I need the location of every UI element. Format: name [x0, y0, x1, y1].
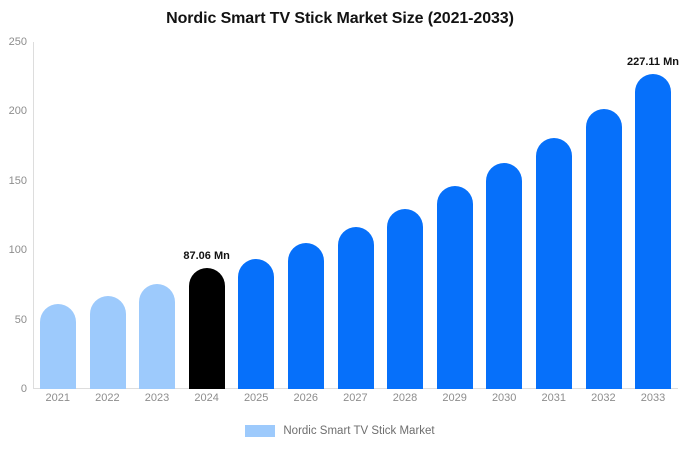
bar[interactable] [486, 163, 522, 389]
x-axis-tick-label: 2021 [33, 392, 83, 404]
bar[interactable] [40, 304, 76, 389]
bar[interactable] [387, 209, 423, 389]
x-axis-tick-labels: 2021202220232024202520262027202820292030… [33, 392, 678, 412]
bar-slot [579, 42, 629, 389]
bar-slot [380, 42, 430, 389]
bar-slot [331, 42, 381, 389]
x-axis-tick-label: 2023 [132, 392, 182, 404]
bar-slot: 87.06 Mn [182, 42, 232, 389]
x-axis-tick-label: 2029 [430, 392, 480, 404]
plot-area: 050100150200250 87.06 Mn227.11 Mn [33, 42, 678, 389]
y-axis-tick-label: 200 [9, 105, 27, 117]
bar[interactable] [536, 138, 572, 389]
bar[interactable] [90, 296, 126, 389]
y-axis-tick-label: 50 [15, 314, 27, 326]
bar[interactable] [288, 243, 324, 389]
bar-slot [529, 42, 579, 389]
bar-slot [33, 42, 83, 389]
bar-slot [83, 42, 133, 389]
y-axis-tick-label: 150 [9, 175, 27, 187]
x-axis-tick-label: 2027 [331, 392, 381, 404]
bar-slot [281, 42, 331, 389]
y-axis-tick-label: 250 [9, 36, 27, 48]
y-axis-tick-label: 0 [21, 383, 27, 395]
y-axis-tick-label: 100 [9, 244, 27, 256]
bar-slot [132, 42, 182, 389]
x-axis-tick-label: 2031 [529, 392, 579, 404]
bar-value-label: 87.06 Mn [183, 250, 229, 262]
x-axis-tick-label: 2032 [579, 392, 629, 404]
bar[interactable] [635, 74, 671, 389]
bar[interactable] [139, 284, 175, 389]
bar[interactable] [338, 227, 374, 389]
x-axis-tick-label: 2033 [628, 392, 678, 404]
x-axis-tick-label: 2024 [182, 392, 232, 404]
x-axis-tick-label: 2030 [479, 392, 529, 404]
chart-title: Nordic Smart TV Stick Market Size (2021-… [0, 10, 680, 28]
chart-container: Nordic Smart TV Stick Market Size (2021-… [0, 0, 680, 450]
bar-series: 87.06 Mn227.11 Mn [33, 42, 678, 389]
bar[interactable] [238, 259, 274, 389]
legend-swatch [245, 425, 275, 437]
x-axis-tick-label: 2026 [281, 392, 331, 404]
bar-slot [231, 42, 281, 389]
bar-value-label: 227.11 Mn [627, 56, 679, 68]
bar-slot [479, 42, 529, 389]
bar[interactable] [189, 268, 225, 389]
bar[interactable] [437, 186, 473, 389]
x-axis-tick-label: 2025 [231, 392, 281, 404]
bar[interactable] [586, 109, 622, 389]
x-axis-tick-label: 2028 [380, 392, 430, 404]
legend-label[interactable]: Nordic Smart TV Stick Market [283, 425, 434, 437]
x-axis-tick-label: 2022 [83, 392, 133, 404]
bar-slot: 227.11 Mn [628, 42, 678, 389]
chart-legend: Nordic Smart TV Stick Market [0, 425, 680, 437]
bar-slot [430, 42, 480, 389]
